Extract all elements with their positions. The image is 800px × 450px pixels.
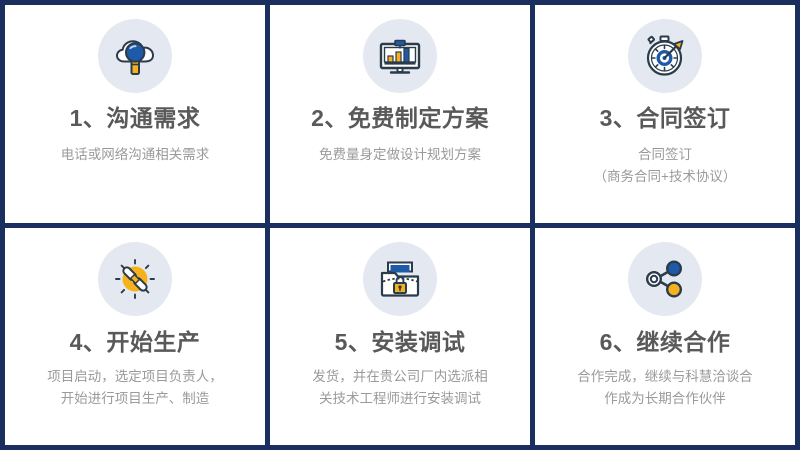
locked-folder-icon (363, 242, 437, 316)
step-title: 6、继续合作 (600, 330, 731, 355)
monitor-bar-chart-icon (363, 19, 437, 93)
step-description: 发货，并在贵公司厂内选派相 关技术工程师进行安装调试 (312, 366, 488, 410)
step-title: 4、开始生产 (70, 330, 201, 355)
share-network-icon (628, 242, 702, 316)
step-description: 合作完成，继续与科慧洽谈合 作成为长期合作伙伴 (577, 366, 753, 410)
step-title: 5、安装调试 (335, 330, 466, 355)
step-description: 合同签订 （商务合同+技术协议） (594, 144, 737, 188)
step-card-6[interactable]: 6、继续合作 合作完成，继续与科慧洽谈合 作成为长期合作伙伴 (535, 228, 795, 446)
step-title: 3、合同签订 (600, 106, 731, 131)
stopwatch-target-icon (628, 19, 702, 93)
cloud-search-icon (98, 19, 172, 93)
step-description: 项目启动，选定项目负责人， 开始进行项目生产、制造 (47, 366, 223, 410)
chain-link-icon (98, 242, 172, 316)
step-card-3[interactable]: 3、合同签订 合同签订 （商务合同+技术协议） (535, 5, 795, 223)
step-description: 电话或网络沟通相关需求 (61, 144, 210, 166)
step-description: 免费量身定做设计规划方案 (319, 144, 481, 166)
step-card-1[interactable]: 1、沟通需求 电话或网络沟通相关需求 (5, 5, 265, 223)
process-steps-grid: 1、沟通需求 电话或网络沟通相关需求 2、免费制定方案 免费量身定做设计规划方案 (0, 0, 800, 450)
step-card-4[interactable]: 4、开始生产 项目启动，选定项目负责人， 开始进行项目生产、制造 (5, 228, 265, 446)
step-card-2[interactable]: 2、免费制定方案 免费量身定做设计规划方案 (270, 5, 530, 223)
step-title: 2、免费制定方案 (311, 106, 489, 131)
step-title: 1、沟通需求 (70, 106, 201, 131)
step-card-5[interactable]: 5、安装调试 发货，并在贵公司厂内选派相 关技术工程师进行安装调试 (270, 228, 530, 446)
